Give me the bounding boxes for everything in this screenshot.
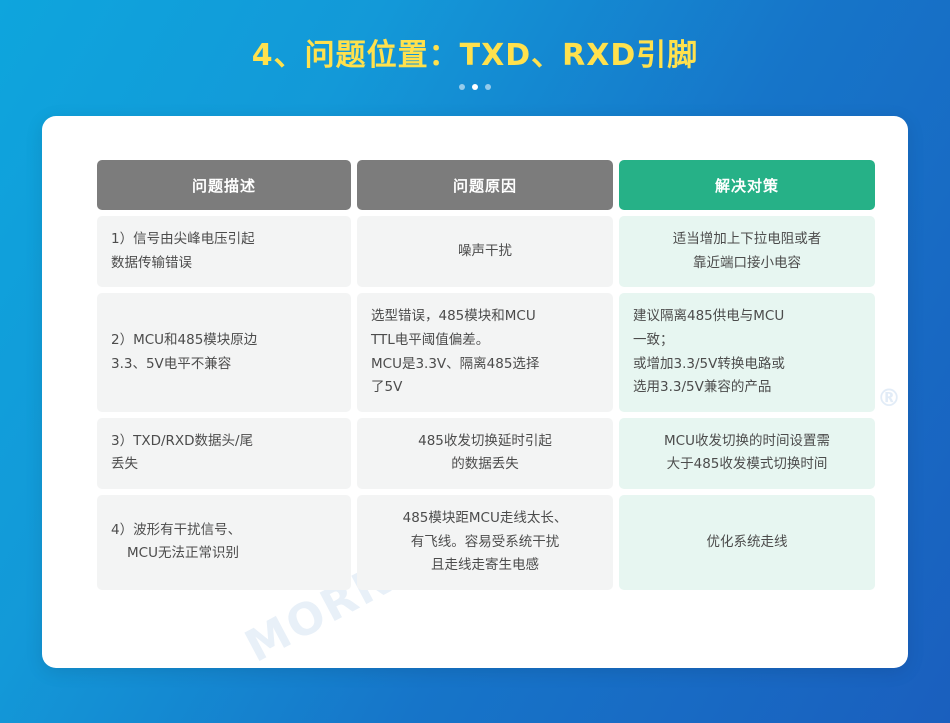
cell-line: 数据传输错误 [111, 252, 337, 276]
pagination-dot-2[interactable] [472, 84, 478, 90]
cell-problem-3: 3）TXD/RXD数据头/尾 丢失 [97, 418, 351, 489]
cell-line: 有飞线。容易受系统干扰 [371, 531, 599, 555]
cell-line: 优化系统走线 [633, 531, 861, 555]
cell-line: 的数据丢失 [371, 453, 599, 477]
cell-line: 485模块距MCU走线太长、 [371, 507, 599, 531]
pagination-dot-1[interactable] [459, 84, 465, 90]
pagination-dots[interactable] [0, 84, 950, 90]
table-header-solution: 解决对策 [619, 160, 875, 210]
cell-line: 且走线走寄生电感 [371, 554, 599, 578]
cell-line: 了5V [371, 376, 599, 400]
cell-line: MCU无法正常识别 [111, 542, 337, 566]
cell-line: 3.3、5V电平不兼容 [111, 353, 337, 377]
table-row: 3）TXD/RXD数据头/尾 丢失 485收发切换延时引起 的数据丢失 MCU收… [97, 418, 875, 489]
cell-problem-4: 4）波形有干扰信号、 MCU无法正常识别 [97, 495, 351, 590]
cell-line: 靠近端口接小电容 [633, 252, 861, 276]
cell-line: 或增加3.3/5V转换电路或 [633, 353, 861, 377]
cell-line: 噪声干扰 [371, 240, 599, 264]
cell-solution-3: MCU收发切换的时间设置需 大于485收发模式切换时间 [619, 418, 875, 489]
cell-cause-4: 485模块距MCU走线太长、 有飞线。容易受系统干扰 且走线走寄生电感 [357, 495, 613, 590]
cell-line: 2）MCU和485模块原边 [111, 329, 337, 353]
content-card: MORNSUN® ® 问题描述 问题原因 解决对策 1）信号由尖峰电压引起 [42, 116, 908, 668]
cell-line: MCU收发切换的时间设置需 [633, 430, 861, 454]
cell-line: 大于485收发模式切换时间 [633, 453, 861, 477]
table-row: 1）信号由尖峰电压引起 数据传输错误 噪声干扰 适当增加上下拉电阻或者 靠近端口… [97, 216, 875, 287]
cell-line: 丢失 [111, 453, 337, 477]
cell-line: 3）TXD/RXD数据头/尾 [111, 430, 337, 454]
problem-table: 问题描述 问题原因 解决对策 1）信号由尖峰电压引起 数据传输错误 噪声干扰 适… [91, 154, 881, 596]
cell-line: TTL电平阈值偏差。 [371, 329, 599, 353]
cell-line: 1）信号由尖峰电压引起 [111, 228, 337, 252]
cell-line: 选用3.3/5V兼容的产品 [633, 376, 861, 400]
cell-solution-1: 适当增加上下拉电阻或者 靠近端口接小电容 [619, 216, 875, 287]
cell-line: 一致； [633, 329, 861, 353]
cell-line: 4）波形有干扰信号、 [111, 519, 337, 543]
cell-line: 建议隔离485供电与MCU [633, 305, 861, 329]
table-header-problem: 问题描述 [97, 160, 351, 210]
pagination-dot-3[interactable] [485, 84, 491, 90]
cell-line: 485收发切换延时引起 [371, 430, 599, 454]
table-row: 4）波形有干扰信号、 MCU无法正常识别 485模块距MCU走线太长、 有飞线。… [97, 495, 875, 590]
cell-solution-4: 优化系统走线 [619, 495, 875, 590]
cell-solution-2: 建议隔离485供电与MCU 一致； 或增加3.3/5V转换电路或 选用3.3/5… [619, 293, 875, 412]
cell-cause-1: 噪声干扰 [357, 216, 613, 287]
cell-problem-1: 1）信号由尖峰电压引起 数据传输错误 [97, 216, 351, 287]
cell-cause-2: 选型错误，485模块和MCU TTL电平阈值偏差。 MCU是3.3V、隔离485… [357, 293, 613, 412]
table-header-cause: 问题原因 [357, 160, 613, 210]
slide: 4、问题位置：TXD、RXD引脚 MORNSUN® ® 问题描述 问题原因 解决… [0, 0, 950, 723]
page-title: 4、问题位置：TXD、RXD引脚 [0, 30, 950, 74]
table-row: 2）MCU和485模块原边 3.3、5V电平不兼容 选型错误，485模块和MCU… [97, 293, 875, 412]
cell-line: 选型错误，485模块和MCU [371, 305, 599, 329]
cell-line: 适当增加上下拉电阻或者 [633, 228, 861, 252]
cell-cause-3: 485收发切换延时引起 的数据丢失 [357, 418, 613, 489]
cell-problem-2: 2）MCU和485模块原边 3.3、5V电平不兼容 [97, 293, 351, 412]
table-header-row: 问题描述 问题原因 解决对策 [97, 160, 875, 210]
cell-line: MCU是3.3V、隔离485选择 [371, 353, 599, 377]
